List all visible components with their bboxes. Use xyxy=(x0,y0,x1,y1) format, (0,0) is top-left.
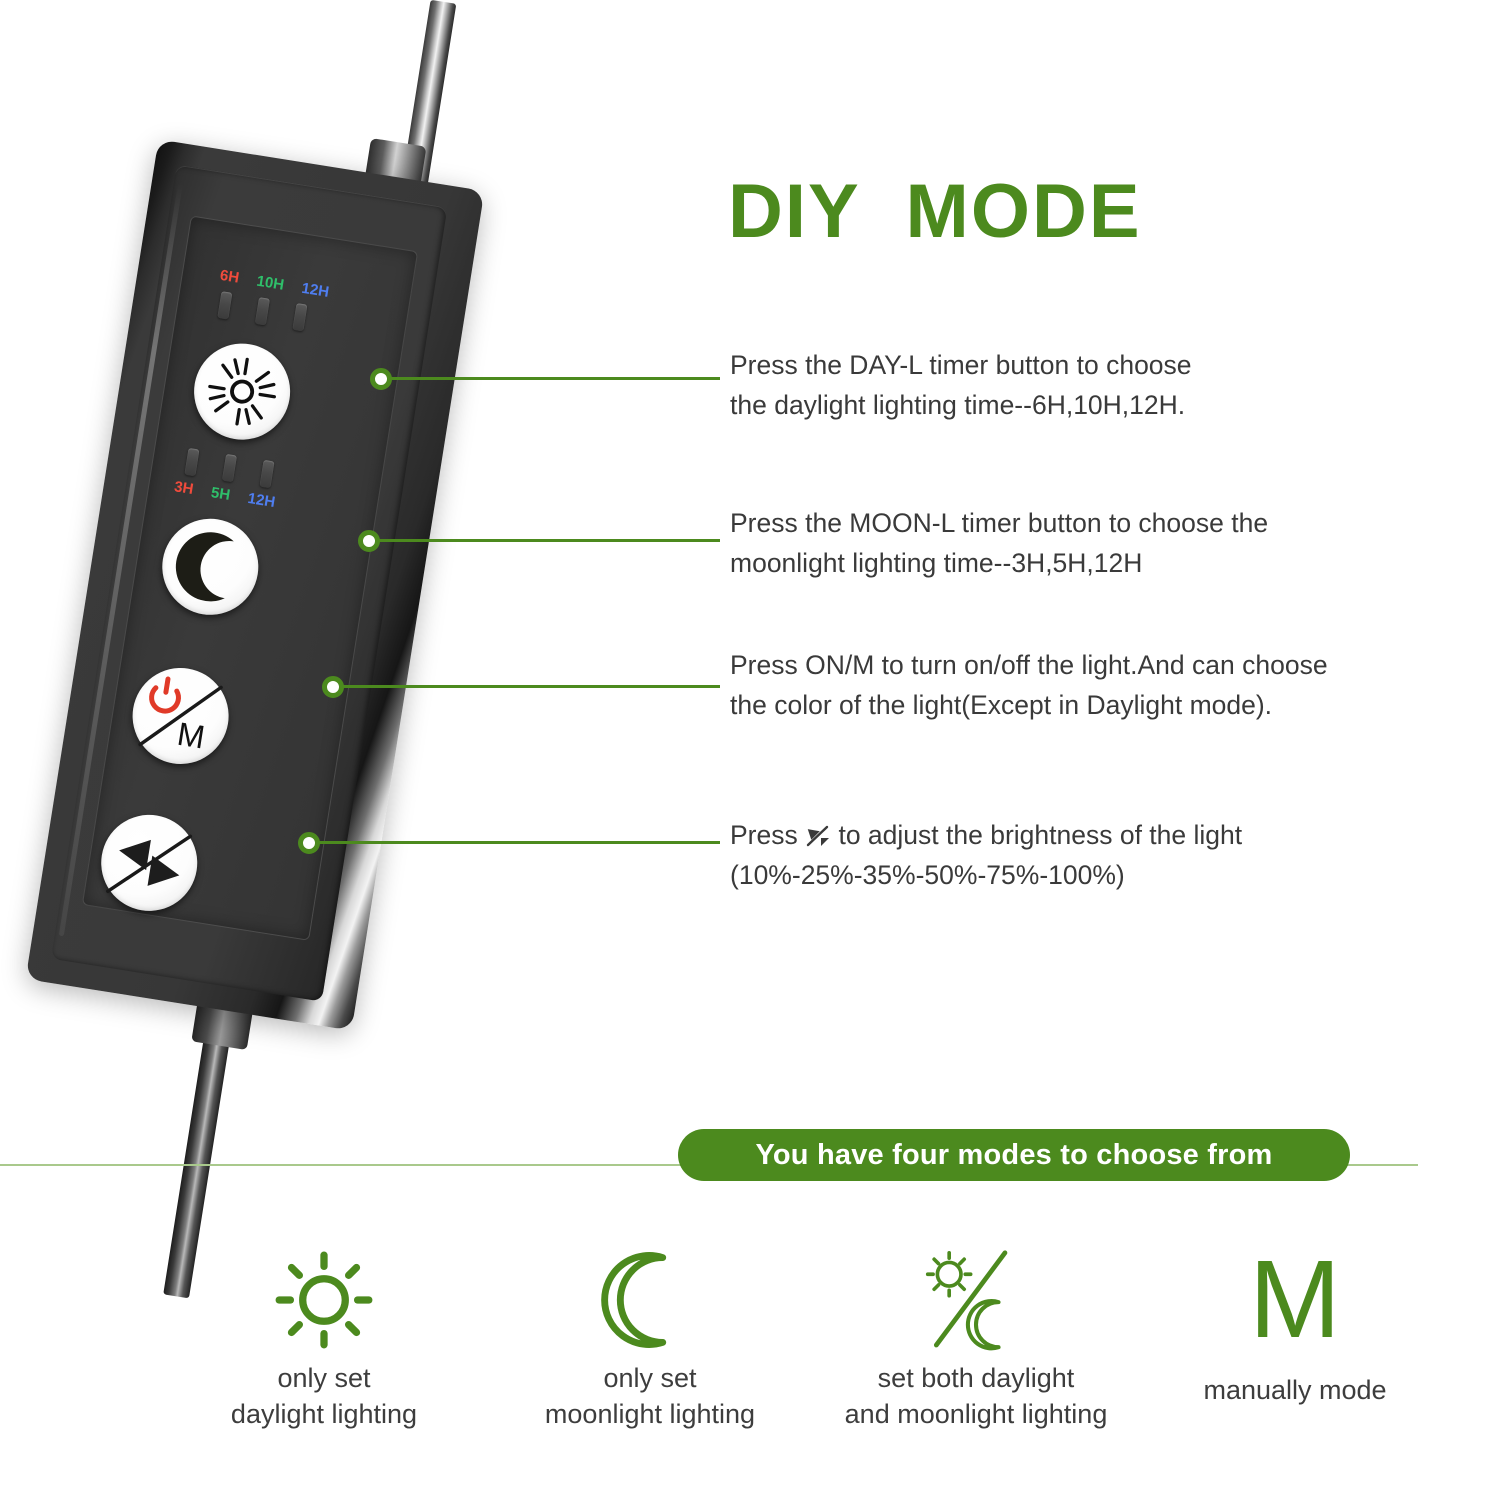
led-indicator xyxy=(259,460,274,488)
page-title: DIY MODE xyxy=(728,168,1142,255)
moon-icon xyxy=(155,512,265,622)
callout-connector-line-onm xyxy=(340,685,720,688)
day-timer-leds xyxy=(217,291,307,331)
control-panel: 6H 10H 12H xyxy=(26,139,485,1030)
modes-banner: You have four modes to choose from xyxy=(678,1129,1350,1181)
led-label-12h: 12H xyxy=(300,280,330,301)
led-indicator xyxy=(255,297,270,325)
callout-connector-line-moon xyxy=(376,539,720,542)
on-m-button[interactable]: M xyxy=(126,661,236,771)
callout-text-moon-timer: Press the MOON-L timer button to choose … xyxy=(730,503,1268,583)
mode-manual: M manually mode xyxy=(1160,1240,1430,1408)
led-indicator xyxy=(184,448,199,476)
led-label-3h: 3H xyxy=(173,478,195,498)
mode-caption: manually mode xyxy=(1160,1372,1430,1408)
infographic-page: DIY MODE 6H 10H 12H xyxy=(0,0,1500,1500)
led-indicator xyxy=(292,303,307,331)
modes-banner-label: You have four modes to choose from xyxy=(755,1139,1272,1172)
mode-caption: set both daylight and moonlight lighting xyxy=(806,1360,1146,1432)
power-m-icon: M xyxy=(126,661,236,771)
brightness-updown-icon xyxy=(805,824,831,848)
led-label-6h: 6H xyxy=(219,267,241,287)
led-label-5h: 5H xyxy=(210,484,232,504)
led-indicator xyxy=(222,454,237,482)
moon-icon-small xyxy=(968,1301,999,1348)
led-indicator xyxy=(217,291,232,319)
mode-daylight-only: only set daylight lighting xyxy=(174,1240,474,1432)
mode-caption: only set daylight lighting xyxy=(174,1360,474,1432)
callout-connector-dot-brightness xyxy=(298,832,320,854)
mode-moonlight-only: only set moonlight lighting xyxy=(490,1240,810,1432)
sun-icon-small xyxy=(928,1253,971,1296)
led-label-12h: 12H xyxy=(247,490,277,511)
mode-icon-wrap xyxy=(490,1240,810,1360)
mode-caption: only set moonlight lighting xyxy=(490,1360,810,1432)
brightness-updown-icon xyxy=(94,808,204,918)
callout-text-brightness: Press to adjust the brightness of the li… xyxy=(730,815,1242,895)
callout-connector-dot-moon xyxy=(358,530,380,552)
day-timer-button[interactable] xyxy=(187,337,297,447)
sun-moon-icon xyxy=(917,1244,1035,1356)
mode-daylight-and-moonlight: set both daylight and moonlight lighting xyxy=(806,1240,1146,1432)
controller-device: 6H 10H 12H xyxy=(30,120,590,1100)
moon-timer-button[interactable] xyxy=(155,512,265,622)
callout-brightness-prefix: Press xyxy=(730,820,805,850)
callout-connector-dot-onm xyxy=(322,676,344,698)
callout-connector-line-day xyxy=(388,377,720,380)
sun-icon xyxy=(268,1244,380,1356)
brightness-button[interactable] xyxy=(94,808,204,918)
led-label-10h: 10H xyxy=(255,273,285,294)
controller-body: 6H 10H 12H xyxy=(26,139,485,1030)
mode-icon-wrap xyxy=(806,1240,1146,1360)
callout-connector-dot-day xyxy=(370,368,392,390)
callout-connector-line-brightness xyxy=(316,841,720,844)
letter-m-icon: M xyxy=(1249,1245,1341,1355)
moon-icon xyxy=(597,1244,703,1356)
sun-icon xyxy=(187,337,297,447)
on-m-letter: M xyxy=(175,715,208,756)
callout-text-day-timer: Press the DAY-L timer button to choose t… xyxy=(730,345,1192,425)
mode-icon-wrap xyxy=(174,1240,474,1360)
callout-text-on-m: Press ON/M to turn on/off the light.And … xyxy=(730,645,1328,725)
modes-row: only set daylight lighting only set moon… xyxy=(100,1240,1430,1480)
mode-icon-wrap: M xyxy=(1160,1240,1430,1360)
